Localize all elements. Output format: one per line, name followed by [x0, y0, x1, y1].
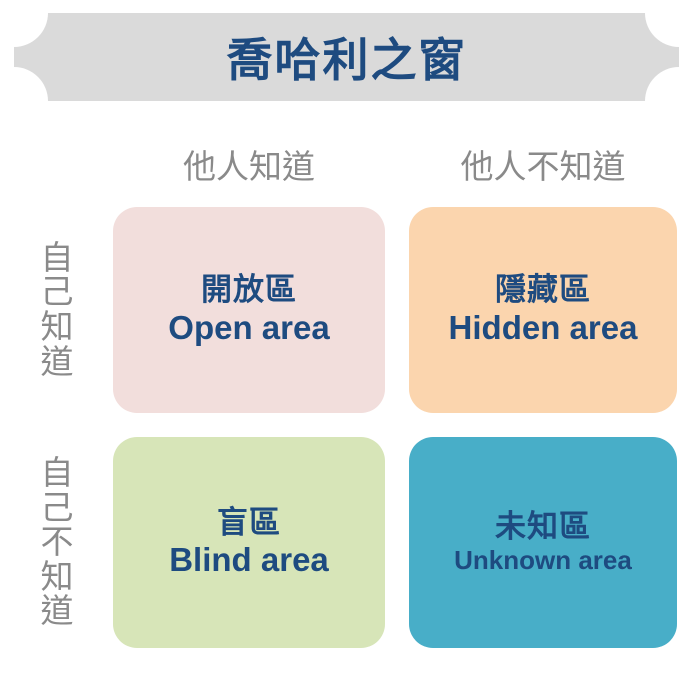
- row-header-char: 自: [41, 456, 74, 491]
- row-header-known-to-self: 自 己 知 道: [26, 207, 88, 413]
- row-header-char: 知: [41, 560, 74, 595]
- row-header-char: 己: [41, 275, 74, 310]
- column-header-known-by-others: 他人知道: [113, 142, 385, 186]
- column-header-unknown-by-others: 他人不知道: [409, 142, 677, 186]
- quadrant-label-en: Unknown area: [454, 545, 632, 576]
- row-header-char: 道: [41, 345, 74, 380]
- quadrant-label-zh: 未知區: [495, 509, 591, 546]
- page-title: 喬哈利之窗: [14, 13, 679, 101]
- row-header-char: 不: [41, 525, 74, 560]
- quadrant-blind-area: 盲區 Blind area: [113, 437, 385, 648]
- quadrant-label-en: Open area: [168, 309, 329, 348]
- quadrant-label-zh: 盲區: [217, 505, 281, 542]
- row-header-char: 自: [41, 241, 74, 276]
- quadrant-open-area: 開放區 Open area: [113, 207, 385, 413]
- row-header-char: 知: [41, 310, 74, 345]
- quadrant-unknown-area: 未知區 Unknown area: [409, 437, 677, 648]
- quadrant-label-en: Blind area: [169, 541, 329, 580]
- row-header-char: 己: [41, 491, 74, 526]
- quadrant-hidden-area: 隱藏區 Hidden area: [409, 207, 677, 413]
- johari-window-diagram: 喬哈利之窗 他人知道 他人不知道 自 己 知 道 自 己 不 知 道 開放區 O…: [0, 0, 693, 675]
- row-header-char: 道: [41, 594, 74, 629]
- row-header-unknown-to-self: 自 己 不 知 道: [26, 437, 88, 648]
- quadrant-label-en: Hidden area: [449, 309, 638, 348]
- quadrant-label-zh: 開放區: [201, 272, 297, 309]
- quadrant-label-zh: 隱藏區: [495, 272, 591, 309]
